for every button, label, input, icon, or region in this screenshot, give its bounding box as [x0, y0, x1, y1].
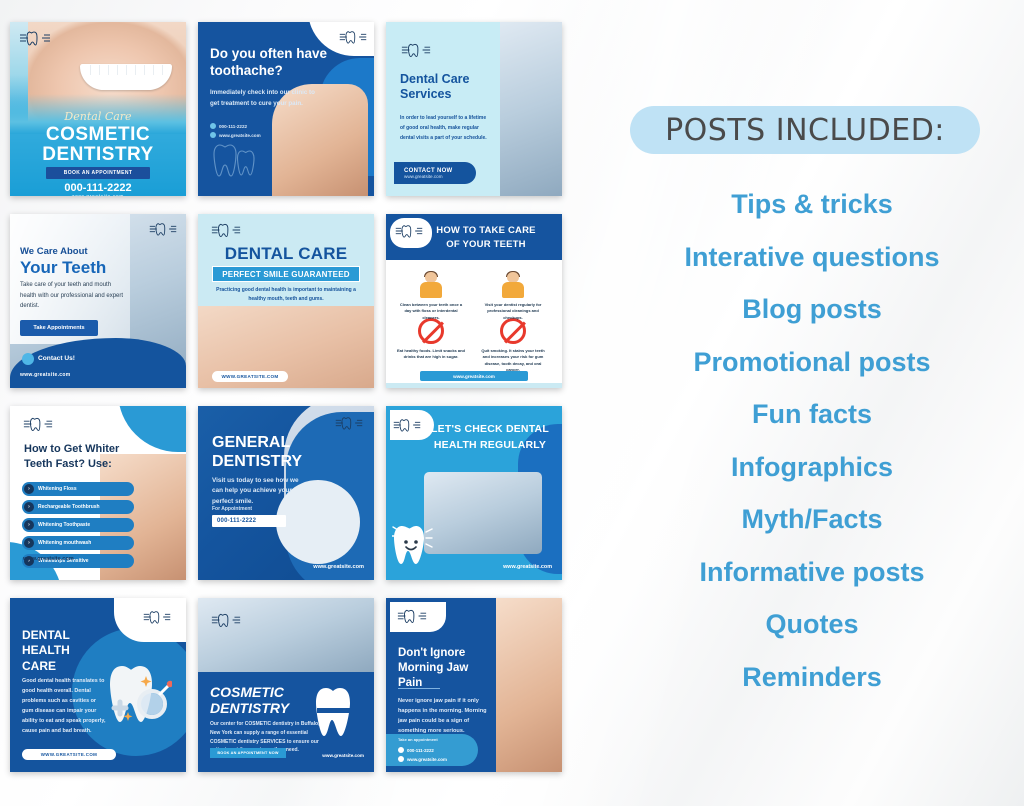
brand-logo-icon — [210, 610, 242, 630]
globe-icon — [398, 756, 404, 762]
post-card-we-care-about-your-teeth[interactable]: We Care About Your Teeth Take care of yo… — [10, 214, 186, 388]
post-title: LET'S CHECK DENTAL HEALTH REGULARLY — [426, 422, 554, 454]
brand-logo-icon — [210, 220, 242, 240]
no-sugar-icon — [418, 318, 444, 344]
post-title: COSMETIC DENTISTRY — [210, 684, 318, 716]
post-website: www.greatsite.com — [407, 757, 447, 762]
posts-included-panel: POSTS INCLUDED: Tips & tricks Interative… — [600, 0, 1024, 806]
post-card-cosmetic-dentistry-smile[interactable]: Dental Care COSMETIC DENTISTRY BOOK AN A… — [10, 22, 186, 196]
divider — [398, 688, 440, 689]
post-phone: 000-111-2222 — [10, 182, 186, 194]
phone-icon — [398, 747, 404, 753]
post-body: Good dental health translates to good he… — [22, 676, 106, 736]
list-item-interative-questions: Interative questions — [600, 231, 1024, 284]
post-title: Dental Care Services — [400, 72, 488, 102]
post-title: HOW TO TAKE CARE OF YOUR TEETH — [416, 224, 556, 252]
post-body: Practicing good dental health is importa… — [214, 286, 358, 303]
chevron-right-icon: › — [24, 538, 34, 548]
post-title: Do you often have toothache? — [210, 46, 330, 80]
dental-checkup-photo — [424, 472, 542, 554]
list-item-myth-facts: Myth/Facts — [600, 493, 1024, 546]
list-item-infographics: Infographics — [600, 441, 1024, 494]
post-phone: 000-111-2222 — [219, 124, 247, 129]
post-card-general-dentistry[interactable]: GENERAL DENTISTRY Visit us today to see … — [198, 406, 374, 580]
list-item-promotional-posts: Promotional posts — [600, 336, 1024, 389]
tip-text: Quit smoking. It stains your teeth and i… — [478, 348, 548, 374]
post-title-line1: Dental Care — [400, 72, 488, 87]
brand-logo-icon — [392, 416, 422, 434]
post-card-morning-jaw-pain[interactable]: Don't Ignore Morning Jaw Pain Never igno… — [386, 598, 562, 772]
post-card-dental-care-perfect-smile[interactable]: DENTAL CARE PERFECT SMILE GUARANTEED Pra… — [198, 214, 374, 388]
post-body: Visit us today to see how we can help yo… — [212, 476, 306, 507]
post-title-line1: COSMETIC — [210, 684, 318, 700]
tooth-outline-icon — [212, 141, 262, 186]
dentist-treatment-photo — [500, 22, 562, 196]
contact-now-button[interactable]: CONTACT NOW www.greatsite.com — [394, 162, 476, 184]
post-phone: 000-111-2222 — [407, 748, 434, 753]
list-item-quotes: Quotes — [600, 598, 1024, 651]
brand-logo-icon — [18, 28, 52, 48]
tip-text: Eat healthy foods. Limit snacks and drin… — [396, 348, 466, 361]
brand-logo-icon — [334, 414, 364, 432]
brand-logo-icon — [142, 608, 172, 626]
posts-included-badge: POSTS INCLUDED: — [630, 106, 980, 154]
guarantee-band: PERFECT SMILE GUARANTEED — [212, 266, 360, 282]
post-website: www.greatsite.com — [322, 753, 364, 758]
post-title-line2: HEALTH REGULARLY — [426, 438, 554, 454]
book-appointment-button[interactable]: BOOK AN APPOINTMENT — [46, 167, 150, 179]
post-website: www.greatsite.com — [23, 556, 74, 562]
post-card-dental-health-care[interactable]: DENTAL HEALTH CARE Good dental health tr… — [10, 598, 186, 772]
list-item[interactable]: ›Whitening Floss — [22, 482, 134, 496]
post-card-whiter-teeth-fast[interactable]: How to Get Whiter Teeth Fast? Use: ›Whit… — [10, 406, 186, 580]
post-title-line2: OF YOUR TEETH — [416, 238, 556, 252]
post-title-line3: CARE — [22, 659, 94, 674]
post-title: DENTAL CARE — [198, 244, 374, 264]
take-appointments-button[interactable]: Take Appointments — [20, 320, 98, 336]
brand-logo-icon — [22, 414, 54, 434]
contact-us-label: Contact Us! — [38, 355, 75, 362]
post-website[interactable]: WWW.GREATSITE.COM — [212, 371, 288, 382]
post-website: www.greatsite.com — [10, 194, 186, 196]
tooth-magnifier-illustration — [102, 660, 172, 732]
posts-preview-grid: Dental Care COSMETIC DENTISTRY BOOK AN A… — [10, 22, 580, 787]
post-title: DENTAL HEALTH CARE — [22, 628, 94, 674]
tooth-mascot-icon — [392, 520, 436, 566]
list-item-label: Whitening mouthwash — [38, 540, 91, 546]
post-title-line2: Morning Jaw Pain — [398, 661, 494, 691]
post-title-line1: Don't Ignore — [398, 646, 494, 661]
chevron-right-icon: › — [24, 520, 34, 530]
list-item-blog-posts: Blog posts — [600, 283, 1024, 336]
appointment-label: Take an appointment — [398, 737, 438, 742]
appointment-label: For Appointment — [212, 506, 252, 512]
post-phone: 000-111-2222 — [212, 515, 286, 527]
post-title-line1: COSMETIC — [10, 124, 186, 146]
post-title: GENERAL DENTISTRY — [212, 434, 322, 472]
list-item-fun-facts: Fun facts — [600, 388, 1024, 441]
list-item-reminders: Reminders — [600, 651, 1024, 704]
post-body: In order to lead yourself to a lifetime … — [400, 114, 488, 143]
brand-logo-icon — [400, 40, 432, 60]
tip-text: Clean between your teeth once a day with… — [396, 302, 466, 321]
post-website[interactable]: www.greatsite.com — [420, 371, 528, 381]
post-title-line2: Services — [400, 87, 488, 102]
post-website[interactable]: WWW.GREATSITE.COM — [22, 749, 116, 760]
chevron-right-icon: › — [24, 484, 34, 494]
woman-jaw-pain-photo — [496, 598, 562, 772]
person-dentist-visit-icon — [500, 272, 526, 298]
post-contact-block: 000-111-2222 www.greatsite.com — [210, 122, 261, 140]
post-eyebrow: We Care About — [20, 246, 88, 257]
post-script-label: Dental Care — [10, 110, 186, 123]
post-website: www.greatsite.com — [313, 564, 364, 570]
list-item[interactable]: ›Whitening Toothpaste — [22, 518, 134, 532]
post-card-dental-care-services[interactable]: Dental Care Services In order to lead yo… — [386, 22, 562, 196]
no-smoking-icon — [500, 318, 526, 344]
post-title: Don't Ignore Morning Jaw Pain — [398, 646, 494, 692]
list-item[interactable]: ›Rechargeable Toothbrush — [22, 500, 134, 514]
list-item-label: Rechargeable Toothbrush — [38, 504, 100, 510]
post-title: How to Get Whiter Teeth Fast? Use: — [24, 442, 134, 472]
brand-logo-icon — [396, 606, 428, 626]
post-body: Take care of your teeth and mouth health… — [20, 280, 124, 312]
post-website: www.greatsite.com — [404, 174, 476, 179]
post-title-line2: DENTISTRY — [212, 453, 322, 472]
brand-logo-icon — [338, 28, 368, 46]
post-card-how-to-take-care-infographic[interactable]: HOW TO TAKE CARE OF YOUR TEETH Clean bet… — [386, 214, 562, 388]
post-title-line2: DENTISTRY — [210, 700, 318, 716]
post-title-line2: DENTISTRY — [10, 144, 186, 166]
book-appointment-now-button[interactable]: BOOK AN APPOINTMENT NOW — [210, 748, 286, 758]
post-card-check-dental-health-regularly[interactable]: LET'S CHECK DENTAL HEALTH REGULARLY www.… — [386, 406, 562, 580]
list-item-label: Whitening Toothpaste — [38, 522, 90, 528]
list-item-tips-tricks: Tips & tricks — [600, 178, 1024, 231]
post-body: Immediately check into our clinic to get… — [210, 88, 316, 110]
post-title-line2: HEALTH — [22, 643, 94, 658]
brand-logo-icon — [148, 220, 178, 238]
post-card-cosmetic-dentistry-buffalo[interactable]: COSMETIC DENTISTRY Our center for COSMET… — [198, 598, 374, 772]
tip-text: Visit your dentist regularly for profess… — [478, 302, 548, 321]
post-title: Your Teeth — [20, 258, 106, 278]
phone-icon — [210, 123, 216, 129]
list-item-label: Whitening Floss — [38, 486, 77, 492]
list-item[interactable]: ›Whitening mouthwash — [22, 536, 134, 550]
post-title-line1: HOW TO TAKE CARE — [416, 224, 556, 238]
post-title-line1: GENERAL — [212, 434, 322, 453]
chevron-right-icon: › — [24, 502, 34, 512]
contact-list: 000-111-2222 www.greatsite.com — [398, 747, 447, 764]
globe-icon — [210, 132, 216, 138]
person-flossing-icon — [418, 272, 444, 298]
post-website: www.greatsite.com — [20, 372, 70, 378]
phone-icon — [22, 353, 34, 365]
post-website: www.greatsite.com — [219, 133, 261, 138]
panel-title: POSTS INCLUDED: — [665, 113, 945, 148]
post-title-line1: DENTAL — [22, 628, 94, 643]
post-card-toothache-question[interactable]: Do you often have toothache? Immediately… — [198, 22, 374, 196]
footer-strip — [386, 383, 562, 388]
post-title-line1: LET'S CHECK DENTAL — [426, 422, 554, 438]
post-website: www.greatsite.com — [503, 564, 552, 570]
post-body: Never ignore jaw pain if it only happens… — [398, 696, 490, 736]
list-item-informative-posts: Informative posts — [600, 546, 1024, 599]
posts-included-list: Tips & tricks Interative questions Blog … — [600, 178, 1024, 703]
